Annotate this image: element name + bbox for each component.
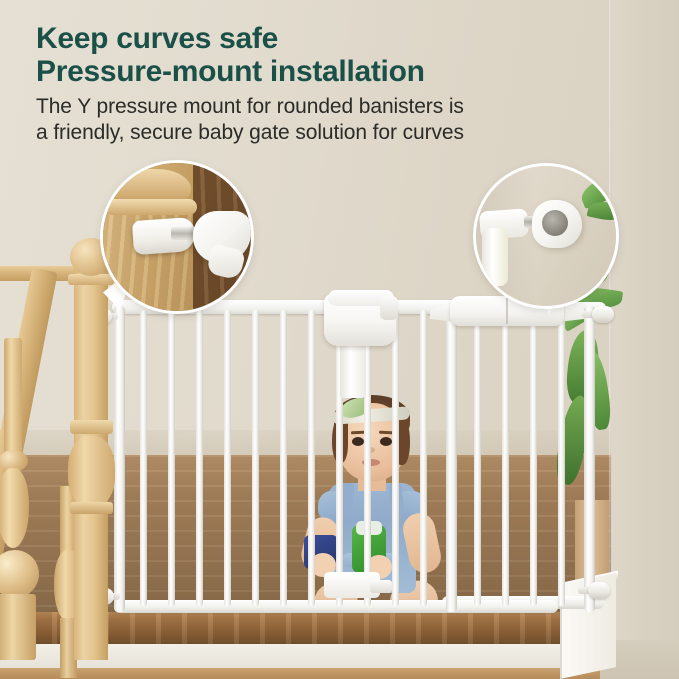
headline: Keep curves safe Pressure-mount installa… [36, 22, 636, 88]
gate-center-post [446, 306, 457, 612]
gate-bar [224, 310, 231, 606]
gate-bar [196, 310, 203, 606]
banister-spindle [4, 338, 22, 458]
gate-bar [530, 310, 537, 606]
newel-turned-bulge [68, 436, 115, 506]
pressure-mount-knob-top-right[interactable] [592, 306, 614, 323]
callout-right-wall-mount-cup [476, 166, 616, 306]
gate-bar [558, 310, 565, 606]
header-text-block: Keep curves safe Pressure-mount installa… [0, 0, 679, 165]
callout-left-y-pressure-mount [103, 163, 251, 311]
spindle-urn [0, 468, 29, 548]
gate-bar [280, 310, 287, 606]
callout-left-post-lip [105, 199, 197, 215]
baby-gate [112, 300, 604, 618]
gate-bar [474, 310, 481, 606]
gate-bar [168, 310, 175, 606]
gate-bar [252, 310, 259, 606]
gate-post-right [584, 306, 595, 612]
spindle-base [0, 594, 36, 660]
newel-collar [70, 420, 113, 434]
subheadline-line-2: a friendly, secure baby gate solution fo… [36, 120, 626, 146]
callout-right-gate-post [482, 228, 508, 286]
wall-pressure-cup-socket [542, 210, 568, 236]
gate-bar [502, 310, 509, 606]
subheadline: The Y pressure mount for rounded baniste… [36, 94, 626, 146]
gate-bottom-tab [370, 580, 392, 593]
gate-bar [392, 310, 399, 606]
product-marketing-image: Keep curves safe Pressure-mount installa… [0, 0, 679, 679]
newel-collar [70, 502, 113, 514]
headline-line-2: Pressure-mount installation [36, 55, 636, 88]
gate-bar [420, 310, 427, 606]
stair-banister [0, 250, 144, 679]
subheadline-line-1: The Y pressure mount for rounded baniste… [36, 94, 626, 120]
gate-bar [308, 310, 315, 606]
gate-latch-stem [340, 342, 366, 398]
spindle-ball [0, 550, 39, 598]
gate-latch-button[interactable] [380, 296, 398, 320]
pressure-mount-knob-bottom-right[interactable] [588, 582, 610, 599]
headline-line-1: Keep curves safe [36, 22, 278, 55]
